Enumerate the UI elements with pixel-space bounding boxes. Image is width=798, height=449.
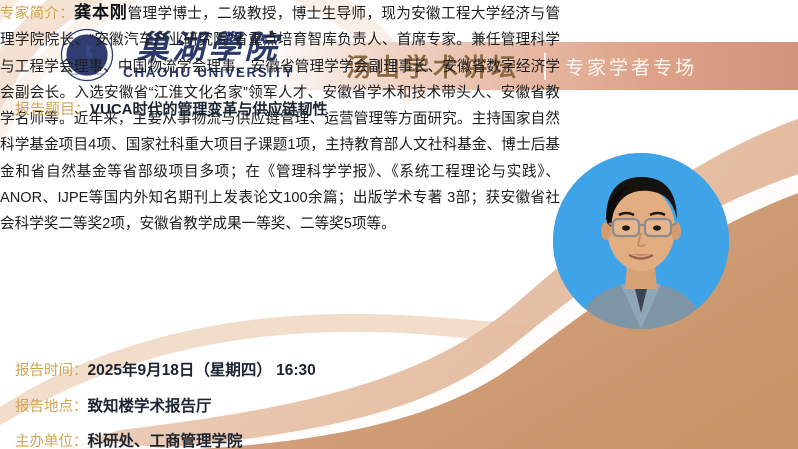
- report-place-row: 报告地点： 致知楼学术报告厅: [15, 394, 212, 416]
- report-place-label: 报告地点：: [15, 395, 88, 416]
- report-place-value: 致知楼学术报告厅: [88, 394, 212, 416]
- report-host-row: 主办单位： 科研处、工商管理学院: [15, 429, 243, 449]
- report-time-label: 报告时间：: [15, 359, 88, 380]
- report-time-value: 2025年9月18日（星期四） 16:30: [88, 358, 316, 380]
- report-title-row: 报告题目： VUCA时代的管理变革与供应链韧性: [15, 98, 328, 119]
- seminar-poster: 巢 湖 學 院 CHAOHU UNIVERSITY 巢湖學院 CHAOHU UN…: [0, 0, 798, 449]
- speaker-name: 龚本刚: [74, 3, 127, 22]
- report-title-label: 报告题目：: [15, 98, 90, 119]
- report-host-label: 主办单位：: [15, 430, 88, 449]
- speaker-bio-text: 管理学博士，二级教授，博士生导师，现为安徽工程大学经济与管理学院院长、“安徽汽车…: [0, 6, 560, 232]
- report-title-value: VUCA时代的管理变革与供应链韧性: [90, 98, 328, 119]
- speaker-bio-label: 专家简介：: [0, 6, 74, 22]
- speaker-portrait-photo: [553, 153, 729, 329]
- report-host-value: 科研处、工商管理学院: [88, 429, 243, 449]
- report-time-row: 报告时间： 2025年9月18日（星期四） 16:30: [15, 358, 316, 380]
